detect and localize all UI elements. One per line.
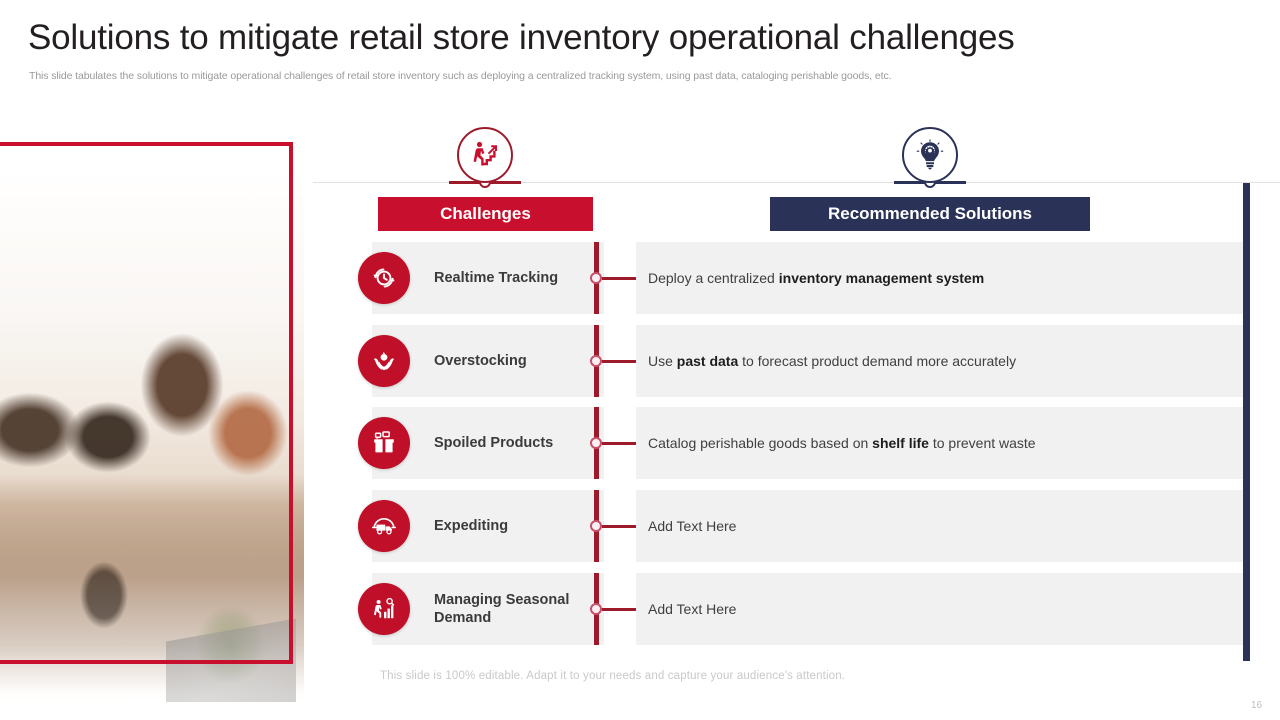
solution-prefix: Add Text Here [648,601,736,617]
right-accent-bar [1243,183,1250,661]
row-connector-line [602,360,640,363]
solution-bold: inventory management system [779,270,984,286]
solution-suffix: to prevent waste [929,435,1036,451]
lightbulb-gear-idea-icon [902,127,958,183]
row-connector-node [590,272,602,284]
column-header-solutions: Recommended Solutions [770,197,1090,231]
solution-bold: past data [677,353,738,369]
solution-box[interactable]: Deploy a centralized inventory managemen… [636,242,1245,314]
page-number: 16 [1251,700,1262,711]
slide-root: Solutions to mitigate retail store inven… [0,0,1280,720]
solution-box[interactable]: Use past data to forecast product demand… [636,325,1245,397]
challenge-label: Overstocking [434,325,609,397]
photo-red-frame [0,142,293,664]
row-connector-node [590,437,602,449]
delivery-truck-speed-icon [358,500,410,552]
person-climbing-stairs-growth-icon [457,127,513,183]
footer-note: This slide is 100% editable. Adapt it to… [380,670,845,682]
solution-bold: shelf life [872,435,929,451]
row-connector-line [602,525,640,528]
table-row: Realtime Tracking Deploy a centralized i… [358,242,1245,314]
hands-plant-sprout-icon [358,335,410,387]
solution-prefix: Add Text Here [648,518,736,534]
solution-text: Use past data to forecast product demand… [636,352,1016,370]
table-row: Overstocking Use past data to forecast p… [358,325,1245,397]
gift-package-box-icon [358,417,410,469]
row-connector-node [590,355,602,367]
challenge-label: Spoiled Products [434,407,609,479]
page-subtitle: This slide tabulates the solutions to mi… [29,70,891,82]
challenge-label: Expediting [434,490,609,562]
row-connector-line [602,608,640,611]
table-row: Managing Seasonal Demand Add Text Here [358,573,1245,645]
solution-text: Add Text Here [636,600,736,618]
row-connector-line [602,442,640,445]
row-connector-node [590,520,602,532]
solution-text: Deploy a centralized inventory managemen… [636,269,984,287]
solution-box[interactable]: Add Text Here [636,490,1245,562]
column-header-challenges: Challenges [378,197,593,231]
table-row: Spoiled Products Catalog perishable good… [358,407,1245,479]
solution-text: Add Text Here [636,517,736,535]
row-connector-node [590,603,602,615]
solution-prefix: Use [648,353,677,369]
challenge-label: Managing Seasonal Demand [434,573,609,645]
clock-refresh-icon [358,252,410,304]
page-title: Solutions to mitigate retail store inven… [28,18,1015,58]
table-row: Expediting Add Text Here [358,490,1245,562]
solution-suffix: to forecast product demand more accurate… [738,353,1016,369]
solution-prefix: Catalog perishable goods based on [648,435,872,451]
solution-text: Catalog perishable goods based on shelf … [636,434,1036,452]
row-connector-line [602,277,640,280]
solution-prefix: Deploy a centralized [648,270,779,286]
person-chart-growth-icon [358,583,410,635]
challenge-label: Realtime Tracking [434,242,609,314]
solution-box[interactable]: Catalog perishable goods based on shelf … [636,407,1245,479]
solution-box[interactable]: Add Text Here [636,573,1245,645]
